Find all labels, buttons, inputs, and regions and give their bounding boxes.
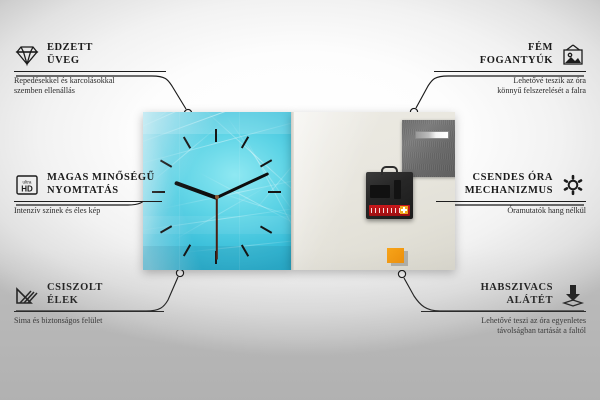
feature-fem-foganytuk: FÉM FOGANTYÚK Lehetővé teszik az óra kön… [434,42,586,96]
ultra-hd-icon: ultra HD [14,173,40,197]
foam-spacer-pad [387,248,404,263]
feature-title: HABSZIVACS ALÁTÉT [481,282,553,307]
clock-tick-3 [268,191,281,193]
hanger-texture [402,120,455,177]
clock-back-panel [291,112,455,270]
panel-left-edge [291,112,294,270]
infographic-canvas: EDZETT ÜVEG Repedésekkel és karcolásokka… [0,0,600,400]
feature-divider [434,71,586,72]
mechanism-hanging-loop [381,166,398,175]
feature-divider [421,311,586,312]
feature-heading-row: CSISZOLT ÉLEK [14,282,164,307]
picture-hanger-icon [560,43,586,67]
feature-heading-row: ultra HD MAGAS MINŐSÉGŰ NYOMTATÁS [14,172,162,197]
arrow-down-pad-icon [560,283,586,307]
metal-hanger-bracket [402,120,455,177]
battery-plus-icon [400,206,408,214]
feature-description: Intenzív színek és éles kép [14,206,162,216]
mechanism-red-label [369,205,410,216]
polished-edges-icon [14,283,40,307]
mechanism-recess-right [394,180,401,199]
diamond-icon [14,43,40,67]
feature-csendes-ora-mechanizmus: CSENDES ÓRA MECHANIZMUS Óramutatók hang … [436,172,586,216]
feature-title: CSENDES ÓRA MECHANIZMUS [465,172,553,197]
clock-face-panel [143,112,291,270]
feature-title: EDZETT ÜVEG [47,42,93,67]
feature-heading-row: EDZETT ÜVEG [14,42,166,67]
feature-divider [14,311,164,312]
quiet-clock-mechanism [366,172,413,219]
feature-description: Sima és biztonságos felület [14,316,164,326]
feature-habszivacs-alatet: HABSZIVACS ALÁTÉT Lehetővé teszi az óra … [421,282,586,336]
feature-title: MAGAS MINŐSÉGŰ NYOMTATÁS [47,172,155,197]
feature-description: Óramutatók hang nélkül [436,206,586,216]
feature-divider [14,71,166,72]
gear-icon [560,173,586,197]
connector-node-csiszolt-elek [176,269,183,276]
feature-heading-row: CSENDES ÓRA MECHANIZMUS [436,172,586,197]
feature-divider [436,201,586,202]
feature-heading-row: FÉM FOGANTYÚK [434,42,586,67]
svg-text:HD: HD [21,184,33,193]
feature-csiszolt-elek: CSISZOLT ÉLEK Sima és biztonságos felüle… [14,282,164,326]
clock-tick-12 [215,129,217,142]
clock-second-hand [216,198,218,260]
feature-magas-minosegu-nyomtatas: ultra HD MAGAS MINŐSÉGŰ NYOMTATÁS Intenz… [14,172,162,216]
feature-description: Lehetővé teszi az óra egyenletes távolsá… [421,316,586,337]
connector-node-habszivacs [398,270,405,277]
label-text-lines [371,208,401,213]
feature-description: Lehetővé teszik az óra könnyű felszerelé… [434,76,586,97]
feature-description: Repedésekkel és karcolásokkal szemben el… [14,76,166,97]
feature-title: CSISZOLT ÉLEK [47,282,103,307]
feature-edzett-uveg: EDZETT ÜVEG Repedésekkel és karcolásokka… [14,42,166,96]
feature-title: FÉM FOGANTYÚK [480,42,553,67]
hanger-slot [415,131,449,139]
mechanism-recess-left [370,185,390,198]
clock-center-pin [215,195,219,199]
feature-heading-row: HABSZIVACS ALÁTÉT [421,282,586,307]
feature-divider [14,201,162,202]
